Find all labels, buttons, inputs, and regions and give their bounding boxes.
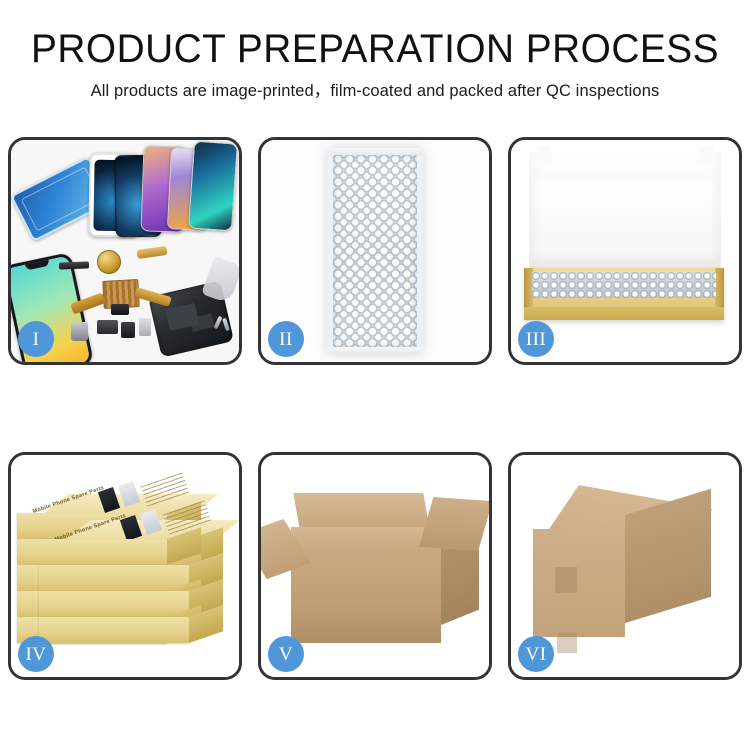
pouch-seal-top	[327, 148, 423, 155]
small-part-1	[71, 322, 88, 341]
sealed-carton-left-face	[533, 529, 625, 637]
small-part-2	[97, 320, 118, 334]
step-badge-4: IV	[18, 636, 54, 672]
step-badge-3: III	[518, 321, 554, 357]
step-badge-1: I	[18, 321, 54, 357]
small-part-4	[139, 318, 151, 336]
tray-bubble-contents	[532, 272, 716, 298]
step-badge-6: VI	[518, 636, 554, 672]
process-steps-grid: I II	[8, 137, 742, 680]
pouch-seal-bottom	[327, 347, 423, 354]
step-badge-5: V	[268, 636, 304, 672]
carton-hand-hole-upper	[555, 567, 577, 593]
process-step-panel-5[interactable]: V	[258, 452, 492, 680]
box-stack: Mobile Phone Spare Parts Mobile Phone Sp…	[17, 477, 233, 663]
box-row-5	[39, 565, 189, 591]
page-title: PRODUCT PREPARATION PROCESS	[11, 26, 739, 72]
box-row-9	[39, 617, 189, 643]
page-root: PRODUCT PREPARATION PROCESS All products…	[0, 0, 750, 750]
tray-front-lip	[524, 307, 724, 320]
box-row-3	[17, 539, 167, 565]
process-step-panel-6[interactable]: VI	[508, 452, 742, 680]
black-bar-part	[59, 261, 89, 269]
flex-cable-c	[137, 246, 168, 259]
carton-right-flap	[419, 497, 489, 551]
process-step-panel-1[interactable]: I	[8, 137, 242, 365]
page-header: PRODUCT PREPARATION PROCESS All products…	[0, 0, 750, 101]
process-step-panel-3[interactable]: III	[508, 137, 742, 365]
teal-gradient-phone	[188, 141, 238, 232]
bubble-texture	[333, 154, 417, 348]
page-subtitle: All products are image-printed，film-coat…	[0, 81, 750, 101]
yellow-inner-tray	[524, 268, 724, 320]
small-part-3	[121, 322, 135, 338]
process-step-panel-2[interactable]: II	[258, 137, 492, 365]
carton-hand-hole-lower	[557, 633, 577, 653]
bubble-wrap-pouch	[327, 148, 423, 354]
small-part-5	[111, 304, 129, 315]
step-badge-2: II	[268, 321, 304, 357]
box-row-7	[39, 591, 189, 617]
gold-speaker-part	[97, 250, 121, 274]
process-step-panel-4[interactable]: Mobile Phone Spare Parts Mobile Phone Sp…	[8, 452, 242, 680]
carton-front-face	[291, 551, 441, 643]
carton-top-rim	[291, 527, 441, 553]
foam-sheet	[533, 174, 717, 260]
